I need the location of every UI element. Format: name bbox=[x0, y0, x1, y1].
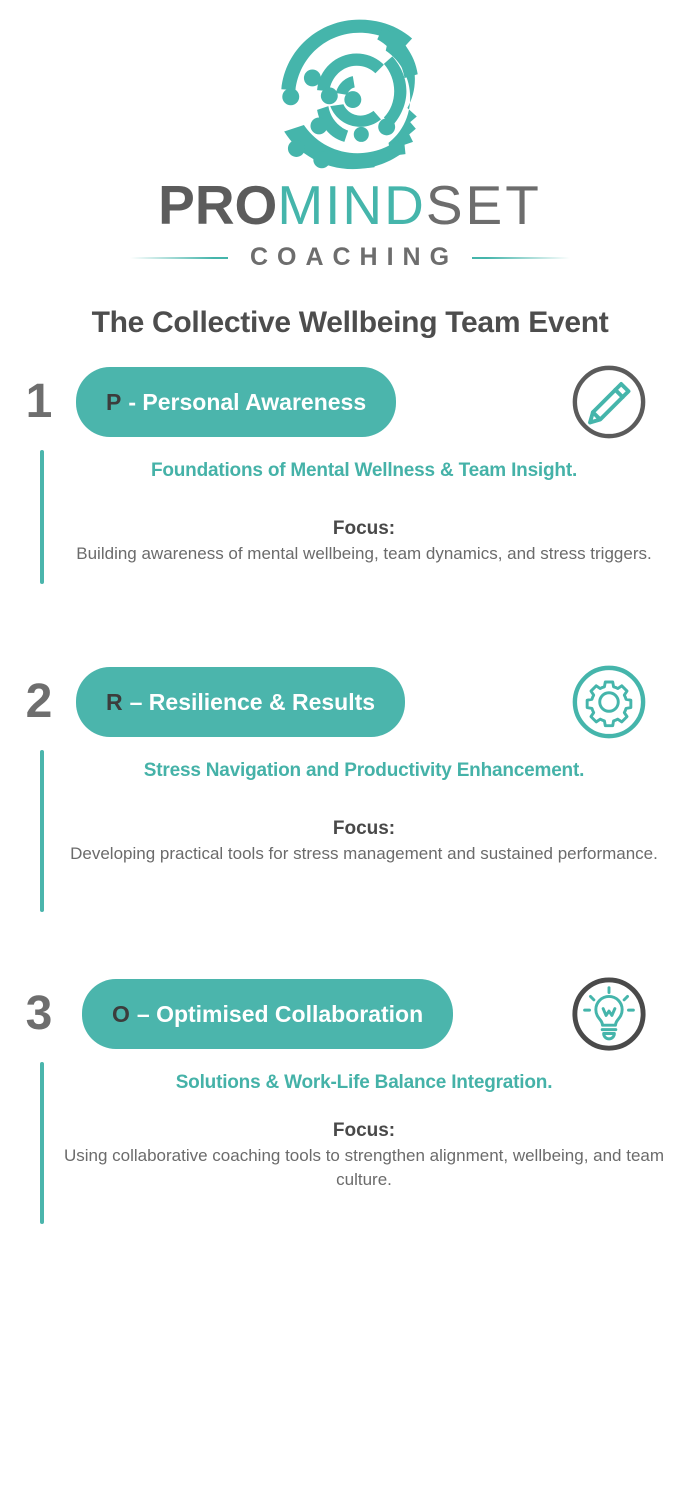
page-title: The Collective Wellbeing Team Event bbox=[0, 306, 700, 340]
pencil-icon bbox=[570, 363, 648, 441]
step-body: Foundations of Mental Wellness & Team In… bbox=[0, 442, 700, 630]
tagline-rule-right bbox=[472, 257, 570, 259]
focus-text: Using collaborative coaching tools to st… bbox=[58, 1144, 670, 1192]
focus-label: Focus: bbox=[58, 818, 670, 840]
step-pill[interactable]: O – Optimised Collaboration bbox=[82, 979, 453, 1049]
step-body: Stress Navigation and Productivity Enhan… bbox=[0, 742, 700, 942]
focus-text: Building awareness of mental wellbeing, … bbox=[58, 542, 670, 566]
focus-text: Developing practical tools for stress ma… bbox=[58, 842, 670, 866]
step-pill-letter: R bbox=[106, 689, 123, 716]
step-pill[interactable]: R – Resilience & Results bbox=[76, 667, 405, 737]
wordmark-pro: PRO bbox=[158, 178, 277, 233]
brand-tagline-row: COACHING bbox=[130, 243, 570, 272]
step-header: 1 P - Personal Awareness bbox=[0, 362, 700, 442]
wordmark-set: SET bbox=[426, 178, 542, 233]
step-number: 2 bbox=[16, 678, 62, 726]
step-number: 1 bbox=[16, 378, 62, 426]
wordmark-mind: MIND bbox=[277, 178, 426, 233]
steps-list: 1 P - Personal Awareness Foundations of … bbox=[0, 362, 700, 1244]
step-subtitle: Stress Navigation and Productivity Enhan… bbox=[58, 760, 670, 782]
step-pill[interactable]: P - Personal Awareness bbox=[76, 367, 396, 437]
step-number: 3 bbox=[16, 990, 62, 1038]
infographic-page: { "brand": { "logo_icon": "circuit-brain… bbox=[0, 0, 700, 1485]
step-header: 3 O – Optimised Collaboration bbox=[0, 974, 700, 1054]
gear-icon bbox=[570, 663, 648, 741]
focus-label: Focus: bbox=[58, 518, 670, 540]
step-item: 2 R – Resilience & Results Stress Naviga… bbox=[0, 662, 700, 942]
step-accent-bar bbox=[40, 750, 44, 912]
step-accent-bar bbox=[40, 1062, 44, 1224]
brand-tagline: COACHING bbox=[228, 243, 472, 272]
circuit-brain-head-icon bbox=[270, 14, 430, 172]
step-header: 2 R – Resilience & Results bbox=[0, 662, 700, 742]
step-body: Solutions & Work-Life Balance Integratio… bbox=[0, 1054, 700, 1244]
step-item: 1 P - Personal Awareness Foundations of … bbox=[0, 362, 700, 630]
brand-wordmark: PROMINDSET bbox=[158, 178, 542, 233]
step-pill-letter: P bbox=[106, 389, 121, 416]
brand-logo-block: PROMINDSET COACHING bbox=[0, 0, 700, 272]
tagline-rule-left bbox=[130, 257, 228, 259]
step-pill-text: – Optimised Collaboration bbox=[137, 1001, 423, 1028]
step-pill-text: – Resilience & Results bbox=[130, 689, 375, 716]
step-subtitle: Solutions & Work-Life Balance Integratio… bbox=[58, 1072, 670, 1094]
lightbulb-icon bbox=[570, 975, 648, 1053]
step-pill-text: - Personal Awareness bbox=[128, 389, 366, 416]
step-pill-letter: O bbox=[112, 1001, 130, 1028]
step-accent-bar bbox=[40, 450, 44, 584]
step-subtitle: Foundations of Mental Wellness & Team In… bbox=[58, 460, 670, 482]
step-item: 3 O – Optimised Collaboration bbox=[0, 974, 700, 1244]
focus-label: Focus: bbox=[58, 1120, 670, 1142]
